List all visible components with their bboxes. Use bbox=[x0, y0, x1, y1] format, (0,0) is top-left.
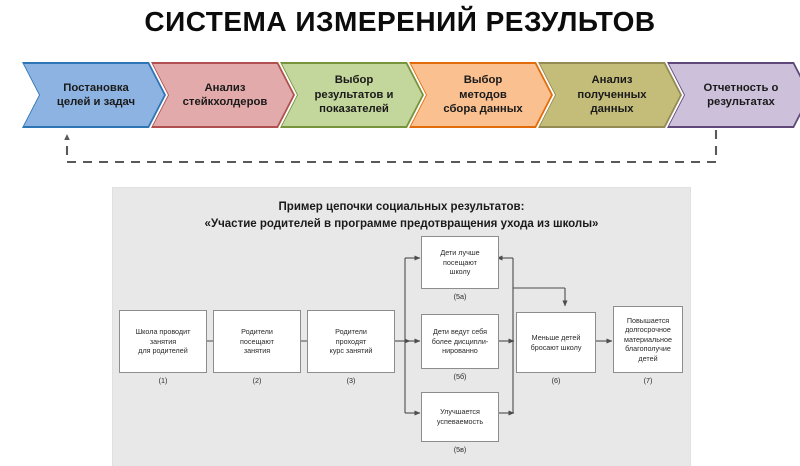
process-step-3-label: Выбор результатов и показателей bbox=[299, 73, 406, 117]
process-step-4[interactable]: Выбор методов сбора данных bbox=[409, 62, 553, 128]
process-step-2-label: Анализ стейкхолдеров bbox=[167, 81, 280, 110]
flow-box-1[interactable]: Школа проводит занятия для родителей bbox=[119, 310, 207, 373]
flow-box-3[interactable]: Родители проходят курс занятий bbox=[307, 310, 395, 373]
process-step-6[interactable]: Отчетность о результатах bbox=[667, 62, 800, 128]
process-step-3[interactable]: Выбор результатов и показателей bbox=[280, 62, 424, 128]
flow-box-7-text: Повышается долгосрочное материальное бла… bbox=[621, 316, 675, 364]
process-step-6-label: Отчетность о результатах bbox=[688, 81, 791, 110]
flow-box-2-text: Родители посещают занятия bbox=[237, 327, 277, 356]
process-chevron-band: Постановка целей и задач Анализ стейкхол… bbox=[22, 62, 778, 128]
example-panel-heading: Пример цепочки социальных результатов: «… bbox=[113, 199, 690, 233]
example-heading-line-1: Пример цепочки социальных результатов: bbox=[113, 199, 690, 216]
page-title: СИСТЕМА ИЗМЕРЕНИЙ РЕЗУЛЬТОВ bbox=[0, 6, 800, 38]
process-step-1[interactable]: Постановка целей и задач bbox=[22, 62, 166, 128]
flow-box-5a-tag: (5а) bbox=[421, 292, 499, 301]
flow-box-5v-text: Улучшается успеваемость bbox=[434, 407, 486, 426]
flow-box-1-text: Школа проводит занятия для родителей bbox=[133, 327, 194, 356]
flow-box-7-tag: (7) bbox=[613, 376, 683, 385]
flow-box-1-tag: (1) bbox=[119, 376, 207, 385]
process-step-5[interactable]: Анализ полученных данных bbox=[538, 62, 682, 128]
flow-box-3-tag: (3) bbox=[307, 376, 395, 385]
flow-box-6[interactable]: Меньше детей бросают школу bbox=[516, 312, 596, 373]
flow-box-2-tag: (2) bbox=[213, 376, 301, 385]
flow-box-6-text: Меньше детей бросают школу bbox=[528, 333, 585, 352]
process-step-5-label: Анализ полученных данных bbox=[561, 73, 658, 117]
flow-box-7[interactable]: Повышается долгосрочное материальное бла… bbox=[613, 306, 683, 373]
process-step-2[interactable]: Анализ стейкхолдеров bbox=[151, 62, 295, 128]
example-heading-line-2: «Участие родителей в программе предотвра… bbox=[113, 216, 690, 233]
flow-box-3-text: Родители проходят курс занятий bbox=[327, 327, 376, 356]
feedback-loop-arrow bbox=[20, 126, 780, 172]
process-step-1-label: Постановка целей и задач bbox=[41, 81, 147, 110]
flow-box-2[interactable]: Родители посещают занятия bbox=[213, 310, 301, 373]
flow-box-5v[interactable]: Улучшается успеваемость bbox=[421, 392, 499, 442]
flow-box-5a-text: Дети лучше посещают школу bbox=[437, 248, 482, 277]
process-step-4-label: Выбор методов сбора данных bbox=[427, 73, 534, 117]
example-panel: Пример цепочки социальных результатов: «… bbox=[113, 188, 690, 466]
flow-box-5v-tag: (5в) bbox=[421, 445, 499, 454]
flow-box-5b-tag: (5б) bbox=[421, 372, 499, 381]
flow-box-5a[interactable]: Дети лучше посещают школу bbox=[421, 236, 499, 289]
flow-box-6-tag: (6) bbox=[516, 376, 596, 385]
flow-box-5b-text: Дети ведут себя более дисципли- нированн… bbox=[429, 327, 492, 356]
flow-box-5b[interactable]: Дети ведут себя более дисципли- нированн… bbox=[421, 314, 499, 369]
